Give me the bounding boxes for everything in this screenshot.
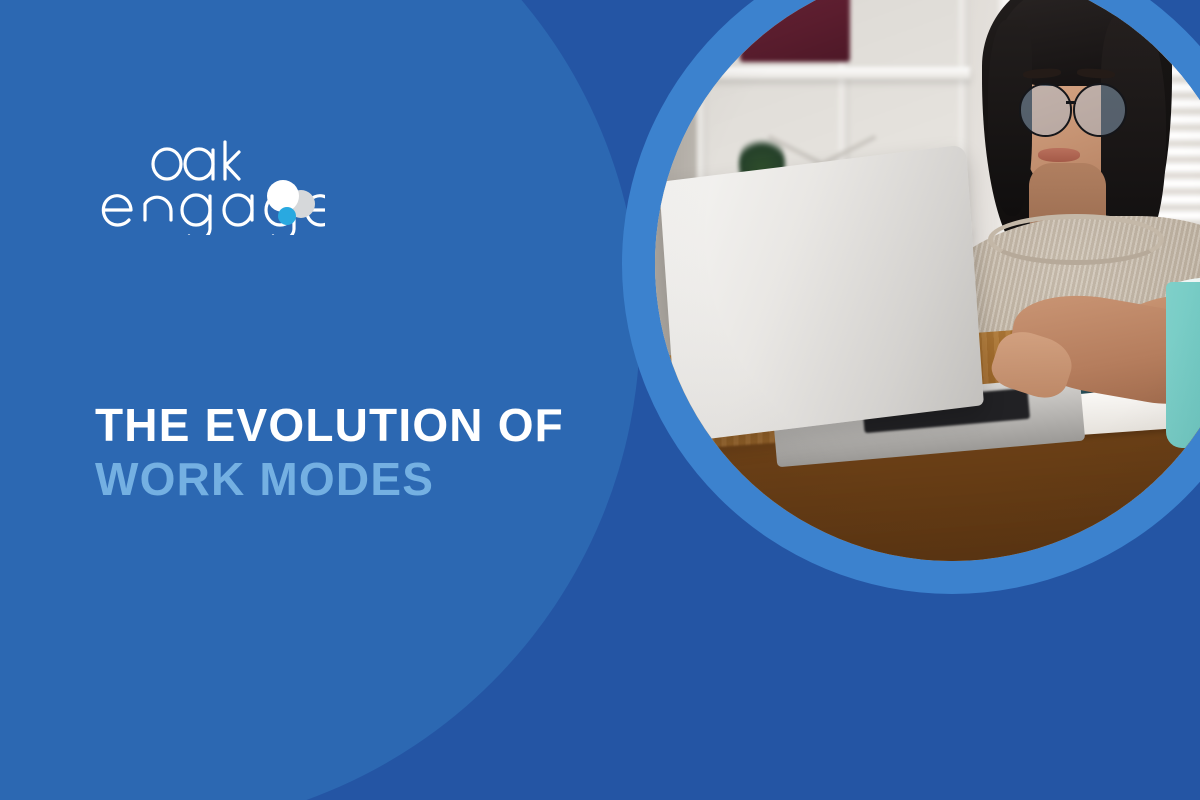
oak-engage-logo-dots: [257, 174, 327, 234]
headline-line-1: THE EVOLUTION OF: [95, 398, 655, 452]
page-title: THE EVOLUTION OF WORK MODES: [95, 398, 655, 507]
logo-dot-white: [267, 180, 299, 212]
hero-photo-circle: [655, 0, 1200, 561]
hero-photo-image: [655, 0, 1200, 561]
photo-vignette: [655, 0, 1200, 561]
poster-canvas: THE EVOLUTION OF WORK MODES: [0, 0, 1200, 800]
logo-dot-cyan: [278, 207, 296, 225]
headline-line-2: WORK MODES: [95, 452, 655, 506]
oak-engage-logo[interactable]: [95, 140, 325, 235]
